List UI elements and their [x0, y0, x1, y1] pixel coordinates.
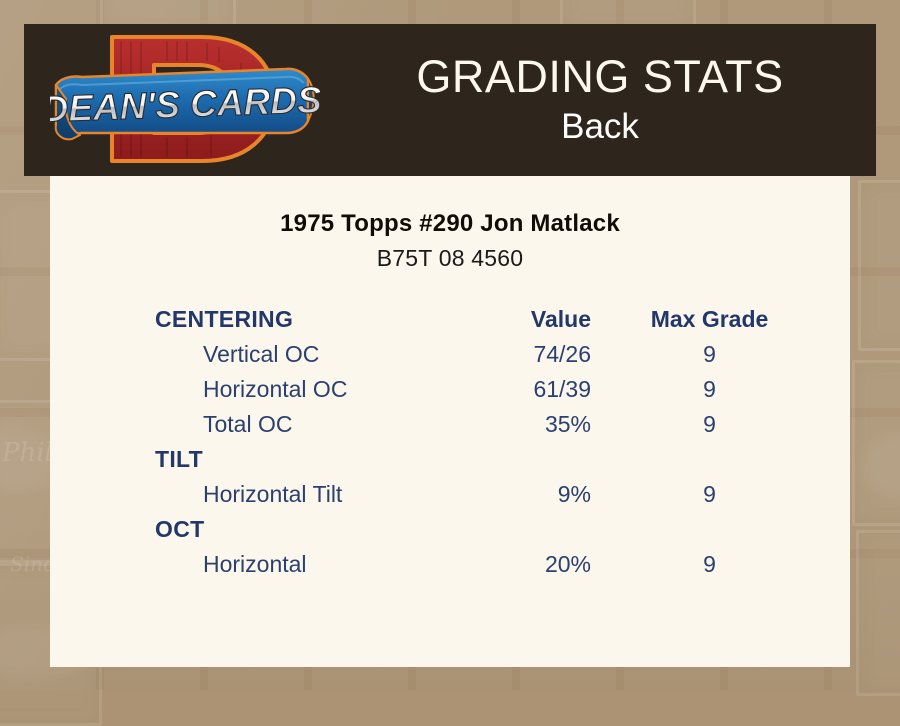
deans-cards-logo[interactable]: DEAN'S CARDS	[50, 29, 320, 169]
card-title: 1975 Topps #290 Jon Matlack	[50, 210, 850, 238]
stat-max-grade: 9	[610, 372, 850, 407]
column-header-centering: CENTERING	[50, 302, 430, 337]
table-row: Horizontal Tilt9%9	[50, 477, 850, 512]
page-subtitle: Back	[561, 105, 639, 149]
table-row: Horizontal OC61/399	[50, 372, 850, 407]
stat-max-grade: 9	[610, 477, 850, 512]
page-title: GRADING STATS	[416, 51, 783, 103]
stat-value: 74/26	[430, 337, 610, 372]
table-group-row: TILT	[50, 442, 850, 477]
header-bar: DEAN'S CARDS GRADING STATS Back	[24, 24, 876, 176]
header-title-group: GRADING STATS Back	[324, 24, 876, 176]
stat-value: 9%	[430, 477, 610, 512]
column-header-max-grade: Max Grade	[610, 302, 850, 337]
grading-stats-body: Vertical OC74/269Horizontal OC61/399Tota…	[50, 337, 850, 582]
stat-label: Horizontal	[50, 547, 430, 582]
background-script-decoration: Phil	[2, 438, 53, 468]
stat-label: Total OC	[50, 407, 430, 442]
stat-label: Horizontal Tilt	[50, 477, 430, 512]
table-row: Horizontal20%9	[50, 547, 850, 582]
column-header-value: Value	[430, 302, 610, 337]
group-label: TILT	[50, 442, 430, 477]
table-header-row: CENTERING Value Max Grade	[50, 302, 850, 337]
card-serial-number: B75T 08 4560	[50, 245, 850, 272]
background-card-decoration	[858, 180, 900, 351]
stat-max-grade: 9	[610, 407, 850, 442]
stat-value: 35%	[430, 407, 610, 442]
stat-label: Vertical OC	[50, 337, 430, 372]
table-row: Total OC35%9	[50, 407, 850, 442]
stat-value: 20%	[430, 547, 610, 582]
group-label: OCT	[50, 512, 430, 547]
stat-value: 61/39	[430, 372, 610, 407]
stat-label: Horizontal OC	[50, 372, 430, 407]
content-panel: 1975 Topps #290 Jon Matlack B75T 08 4560…	[50, 176, 850, 667]
background-card-decoration	[856, 530, 900, 696]
stat-max-grade: 9	[610, 337, 850, 372]
stat-max-grade: 9	[610, 547, 850, 582]
table-group-row: OCT	[50, 512, 850, 547]
table-row: Vertical OC74/269	[50, 337, 850, 372]
grading-stats-table: CENTERING Value Max Grade Vertical OC74/…	[50, 302, 850, 582]
